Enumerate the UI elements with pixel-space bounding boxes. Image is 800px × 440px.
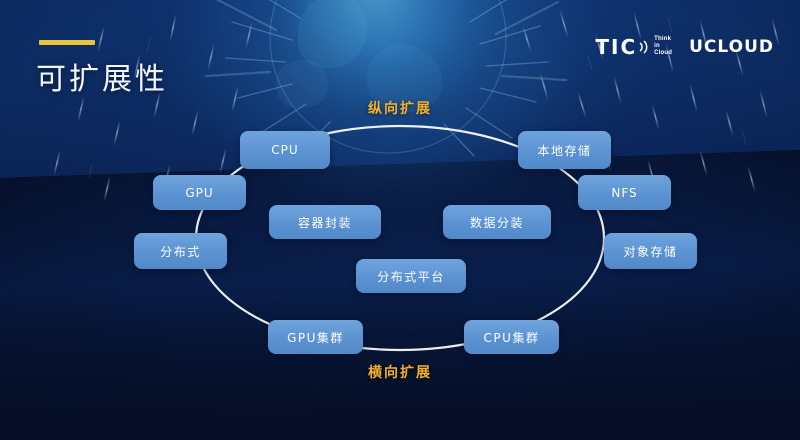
node-distributed-platform[interactable]: 分布式平台 xyxy=(356,259,466,293)
node-local-storage[interactable]: 本地存储 xyxy=(518,131,611,169)
node-gpu-cluster[interactable]: GPU集群 xyxy=(268,320,363,354)
node-gpu[interactable]: GPU xyxy=(153,175,246,210)
node-data-encapsulation[interactable]: 数据分装 xyxy=(443,205,551,239)
axis-label-horizontal: 横向扩展 xyxy=(368,362,432,382)
node-object-storage[interactable]: 对象存储 xyxy=(604,233,697,269)
node-cpu-cluster[interactable]: CPU集群 xyxy=(464,320,559,354)
scalability-diagram: 纵向扩展 横向扩展 CPU 本地存储 GPU NFS 分布式 对象存储 GPU集… xyxy=(0,0,800,440)
slide-canvas: 可扩展性 T I C Think in Cloud UCLOUD xyxy=(0,0,800,440)
axis-label-vertical: 纵向扩展 xyxy=(368,98,432,118)
node-cpu[interactable]: CPU xyxy=(240,131,330,169)
node-distributed[interactable]: 分布式 xyxy=(134,233,227,269)
node-container-encapsulation[interactable]: 容器封装 xyxy=(269,205,381,239)
node-nfs[interactable]: NFS xyxy=(578,175,671,210)
